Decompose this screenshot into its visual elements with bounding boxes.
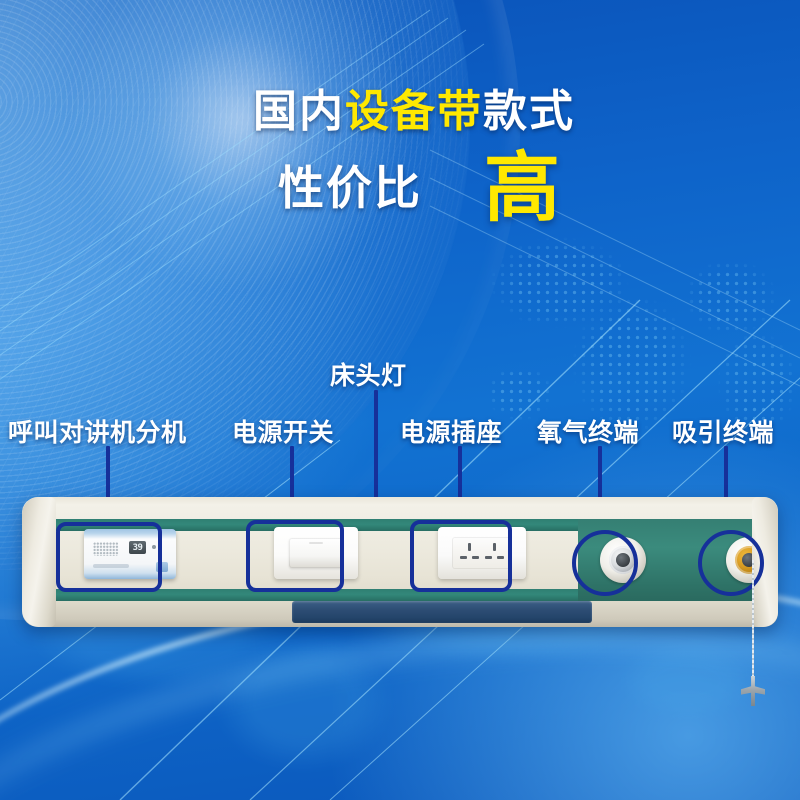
- callout-label-power-switch: 电源开关: [232, 413, 334, 449]
- headline-line2-part2: 高: [484, 146, 562, 231]
- bed-lamp-diffuser: [292, 601, 592, 623]
- callout-label-intercom: 呼叫对讲机分机: [8, 413, 187, 449]
- highlight-circle-suction: [698, 530, 764, 596]
- callout-label-suction: 吸引终端: [672, 413, 774, 449]
- headline-line1-part2: 设备带: [345, 87, 483, 136]
- promo-banner: 国内设备带款式 性价比高 呼叫对讲机分机 电源开关 床头灯 电源插座 氧气终端 …: [0, 0, 800, 800]
- headline-line1-part1: 国内: [253, 87, 345, 136]
- callout-label-power-socket: 电源插座: [400, 413, 502, 449]
- headline-line1-part3: 款式: [483, 87, 575, 136]
- callout-label-bed-lamp: 床头灯: [330, 356, 407, 392]
- headline-line-2: 性价比高: [0, 158, 800, 219]
- highlight-box-intercom: [56, 522, 162, 592]
- highlight-box-power-switch: [246, 520, 344, 592]
- headline-block: 国内设备带款式 性价比高: [0, 86, 800, 219]
- panel-end-cap-left: [22, 497, 56, 627]
- headline-line-1: 国内设备带款式: [0, 86, 800, 138]
- highlight-box-power-socket: [410, 520, 512, 592]
- callout-label-oxygen: 氧气终端: [537, 413, 639, 449]
- highlight-circle-oxygen: [572, 530, 638, 596]
- pull-cord[interactable]: [752, 560, 754, 688]
- headline-line2-part1: 性价比: [278, 162, 422, 214]
